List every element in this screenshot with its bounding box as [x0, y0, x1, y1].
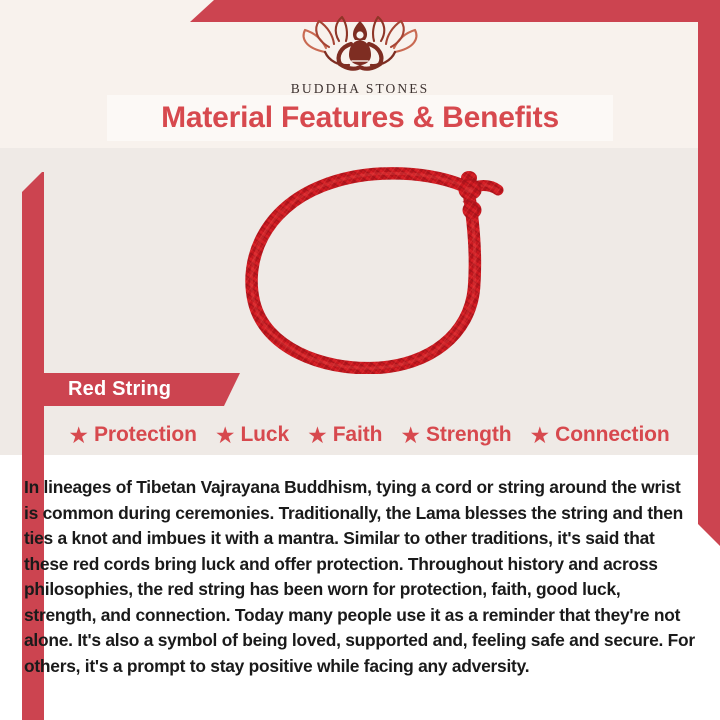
product-image	[222, 152, 512, 374]
feature-item: ★ Luck	[215, 423, 289, 447]
feature-label: Luck	[240, 423, 289, 447]
infographic-page: BUDDHA STONES Material Features & Benefi…	[0, 0, 720, 720]
red-string-bracelet-illustration	[222, 152, 512, 374]
feature-label: Strength	[426, 423, 512, 447]
description-text: In lineages of Tibetan Vajrayana Buddhis…	[24, 475, 696, 679]
feature-item: ★ Connection	[530, 423, 670, 447]
star-icon: ★	[307, 424, 328, 447]
brand-logo: BUDDHA STONES	[0, 14, 720, 97]
lotus-meditation-icon	[295, 14, 425, 76]
star-icon: ★	[68, 424, 89, 447]
feature-label: Protection	[94, 423, 197, 447]
feature-label: Faith	[333, 423, 383, 447]
title-banner: Material Features & Benefits	[107, 95, 613, 141]
feature-item: ★ Protection	[68, 423, 196, 447]
feature-label: Connection	[555, 423, 670, 447]
star-icon: ★	[400, 424, 421, 447]
star-icon: ★	[530, 424, 551, 447]
feature-item: ★ Strength	[400, 423, 511, 447]
feature-item: ★ Faith	[307, 423, 382, 447]
feature-list: ★ Protection ★ Luck ★ Faith ★ Strength ★…	[44, 419, 694, 451]
cord-knot	[459, 171, 482, 219]
product-name-label: Red String	[44, 378, 171, 401]
page-title: Material Features & Benefits	[161, 101, 559, 135]
product-name-banner: Red String	[44, 373, 240, 406]
star-icon: ★	[215, 424, 236, 447]
